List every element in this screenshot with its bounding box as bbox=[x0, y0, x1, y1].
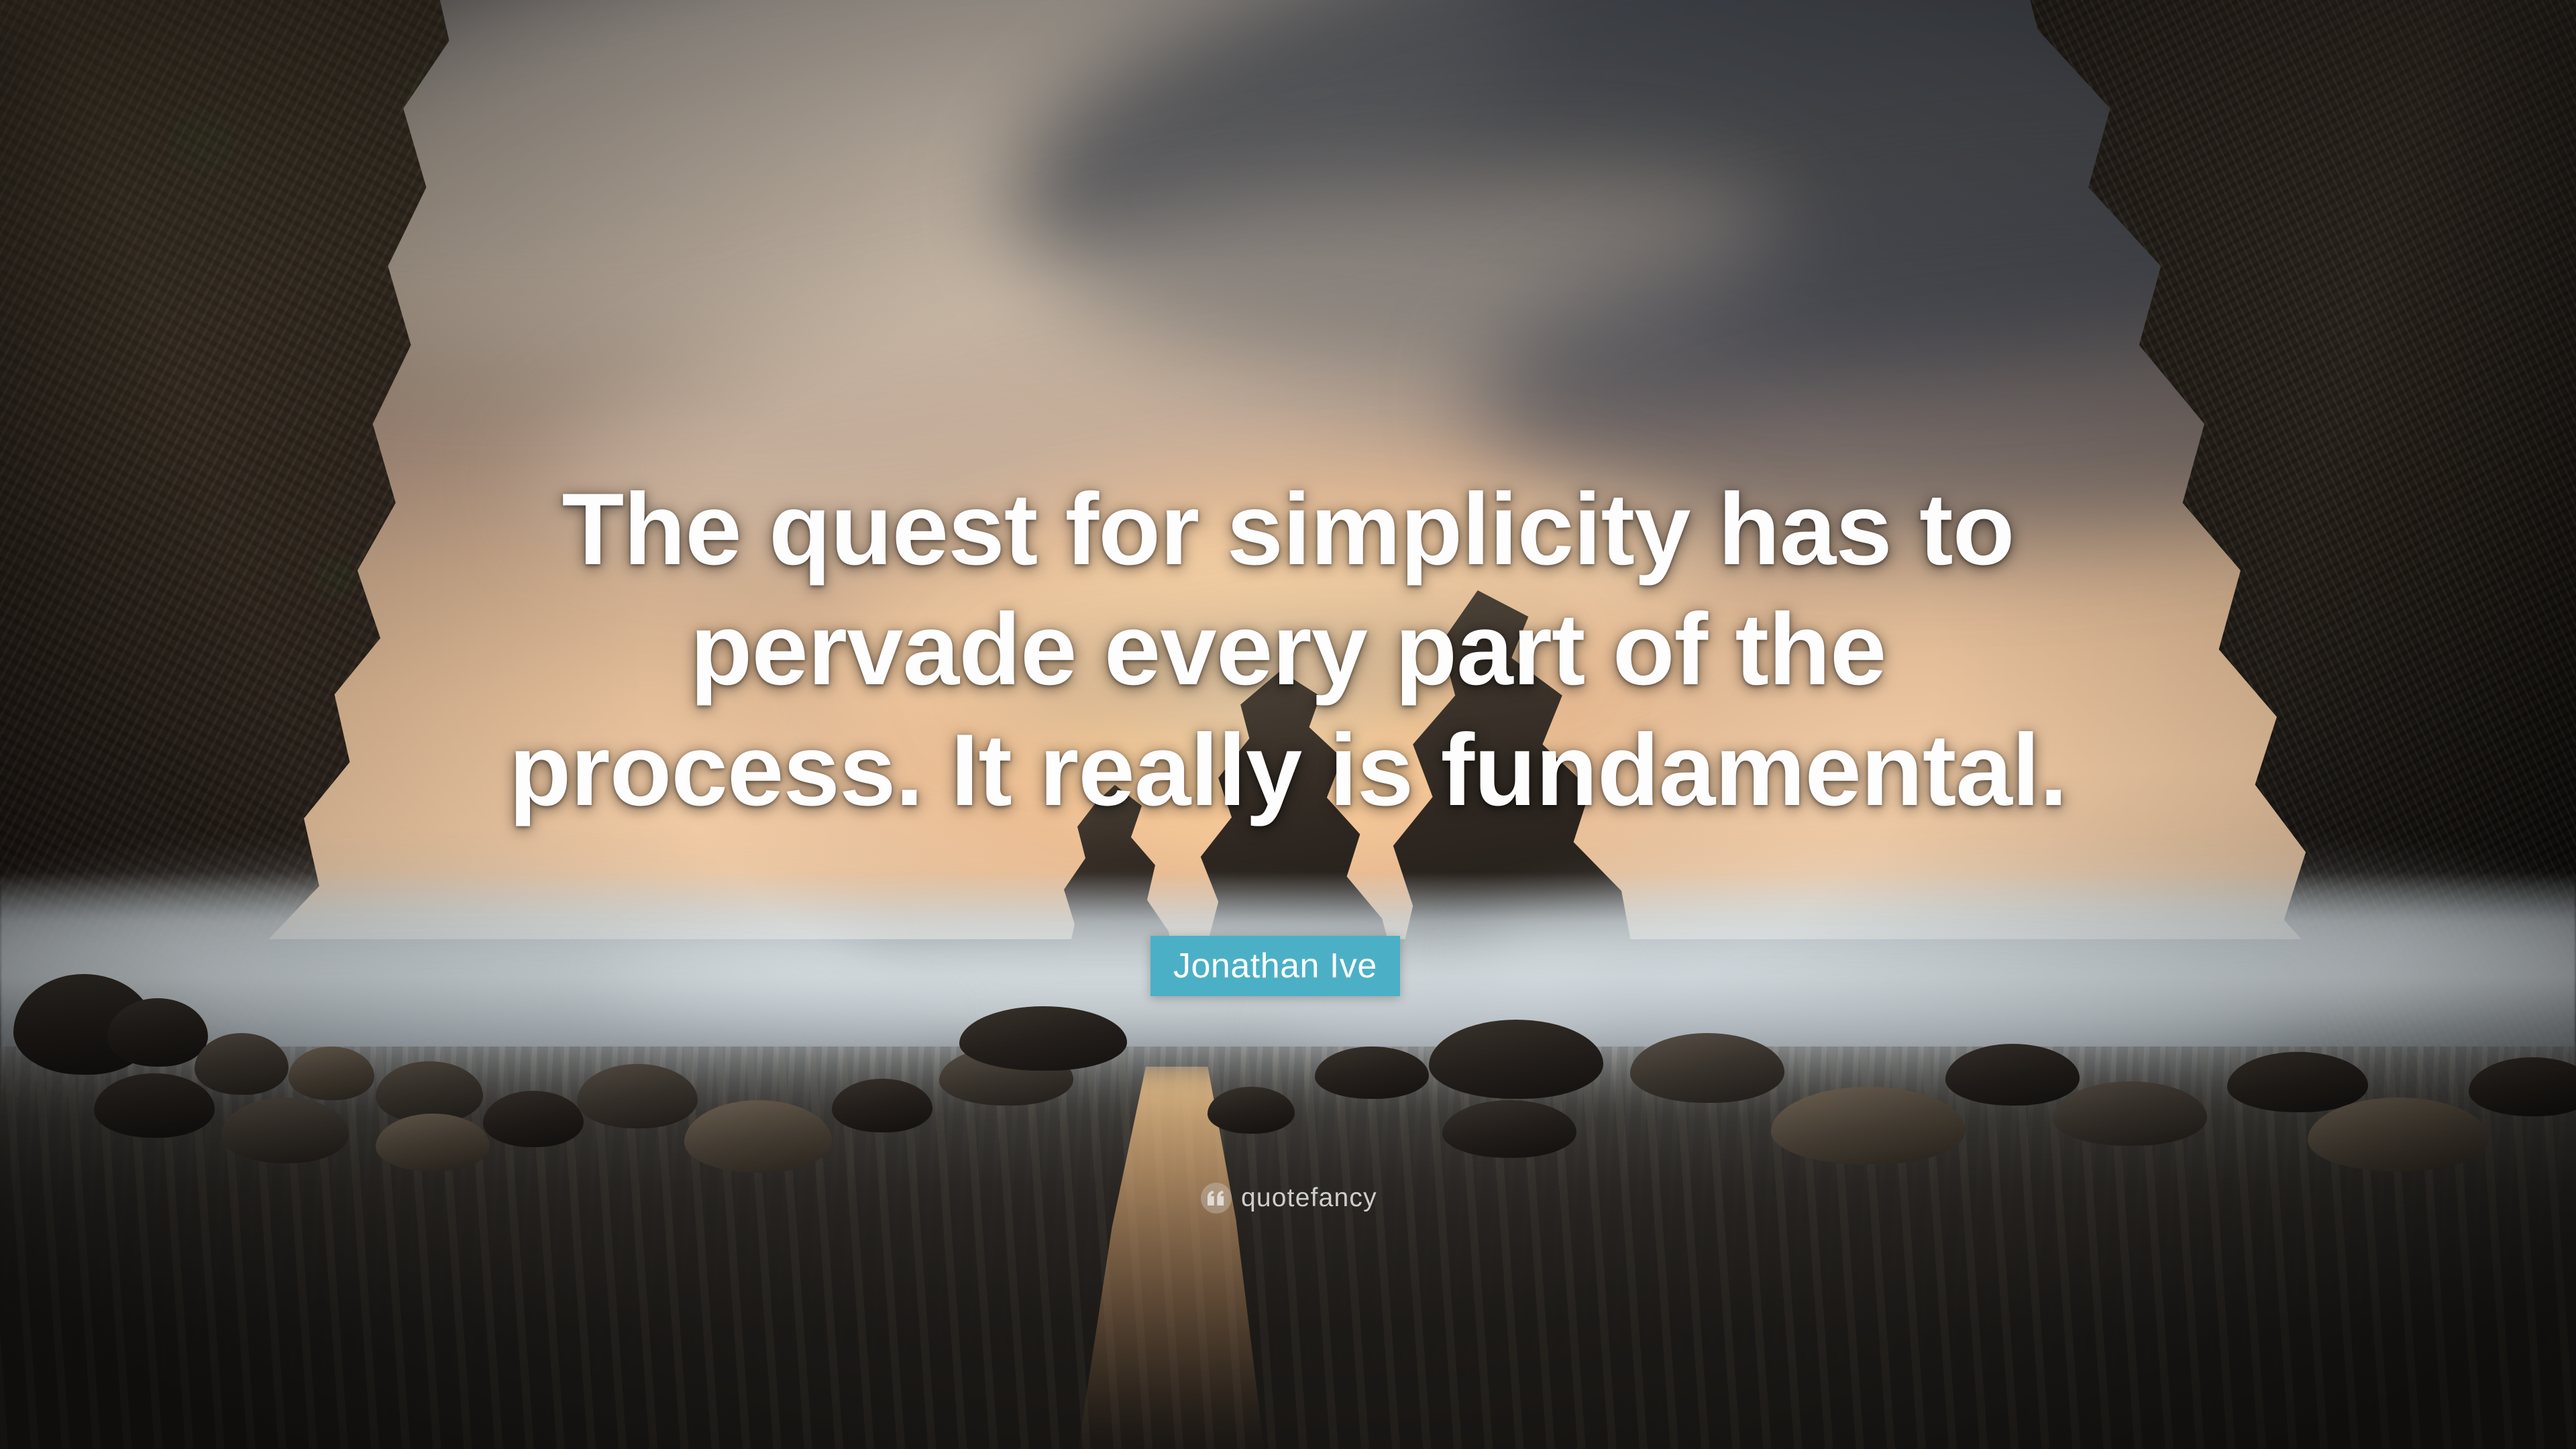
boulder bbox=[2227, 1052, 2368, 1112]
boulder bbox=[288, 1046, 374, 1100]
author-badge[interactable]: Jonathan Ive bbox=[1150, 936, 1400, 996]
quotefancy-brand: quotefancy bbox=[1241, 1183, 1377, 1213]
quote-line-3: process. It really is fundamental. bbox=[0, 710, 2576, 830]
quotefancy-watermark[interactable]: quotefancy bbox=[1201, 1181, 1377, 1216]
boulder bbox=[376, 1114, 490, 1171]
boulder bbox=[1442, 1100, 1576, 1158]
author-name: Jonathan Ive bbox=[1173, 946, 1377, 986]
boulder bbox=[832, 1079, 932, 1132]
boulder bbox=[1315, 1046, 1429, 1099]
boulder bbox=[483, 1091, 584, 1147]
quote-line-1: The quest for simplicity has to bbox=[0, 470, 2576, 590]
boulder bbox=[1945, 1044, 2080, 1106]
boulder bbox=[577, 1064, 698, 1128]
boulder bbox=[94, 1073, 215, 1138]
quote-text: The quest for simplicity has to pervade … bbox=[0, 470, 2576, 830]
quote-mark-icon bbox=[1201, 1183, 1232, 1214]
boulder bbox=[195, 1033, 288, 1095]
boulder bbox=[1207, 1087, 1295, 1134]
quote-poster: The quest for simplicity has to pervade … bbox=[0, 0, 2576, 1449]
quote-line-2: pervade every part of the bbox=[0, 590, 2576, 710]
